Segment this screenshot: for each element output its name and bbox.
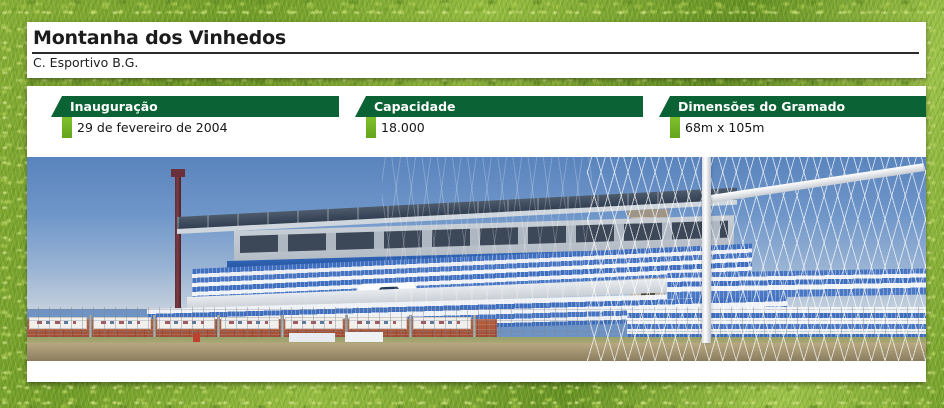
floodlight-mast [175,173,181,321]
title-block: Montanha dos Vinhedos C. Esportivo B.G. [27,22,926,78]
pitch-equipment [289,333,335,342]
info-card-body: 18.000 [366,117,643,138]
info-card-inauguracao: Inauguração 29 de fevereiro de 2004 [62,96,339,138]
goal-net-left [382,157,592,307]
info-card-header: Capacidade [366,96,643,117]
goal-post [702,157,711,343]
stadium-photo [27,157,926,361]
header-notch-icon [51,96,62,117]
info-card-value: 29 de fevereiro de 2004 [72,117,228,138]
header-notch-icon [659,96,670,117]
title-panel: Montanha dos Vinhedos C. Esportivo B.G. [27,22,926,78]
info-card-label: Capacidade [366,96,456,117]
header-notch-icon [355,96,366,117]
info-card-capacidade: Capacidade 18.000 [366,96,643,138]
info-card-value: 18.000 [376,117,425,138]
info-card-body: 29 de fevereiro de 2004 [62,117,339,138]
info-card-header: Dimensões do Gramado [670,96,926,117]
accent-bar [670,117,680,138]
info-card-value: 68m x 105m [680,117,764,138]
accent-bar [62,117,72,138]
info-card-dimensoes-do-gramado: Dimensões do Gramado 68m x 105m [670,96,926,138]
info-card-body: 68m x 105m [670,117,926,138]
page-title: Montanha dos Vinhedos [27,26,926,51]
pitch-equipment [345,332,383,342]
accent-bar [366,117,376,138]
floodlight-mast-head [171,169,185,177]
info-card-header: Inauguração [62,96,339,117]
page-subtitle: C. Esportivo B.G. [27,54,926,71]
info-card-label: Dimensões do Gramado [670,96,845,117]
content-panel: Inauguração 29 de fevereiro de 2004 Capa… [27,86,926,382]
info-cards-row: Inauguração 29 de fevereiro de 2004 Capa… [27,86,926,148]
info-card-label: Inauguração [62,96,158,117]
pitch-equipment [193,334,200,342]
